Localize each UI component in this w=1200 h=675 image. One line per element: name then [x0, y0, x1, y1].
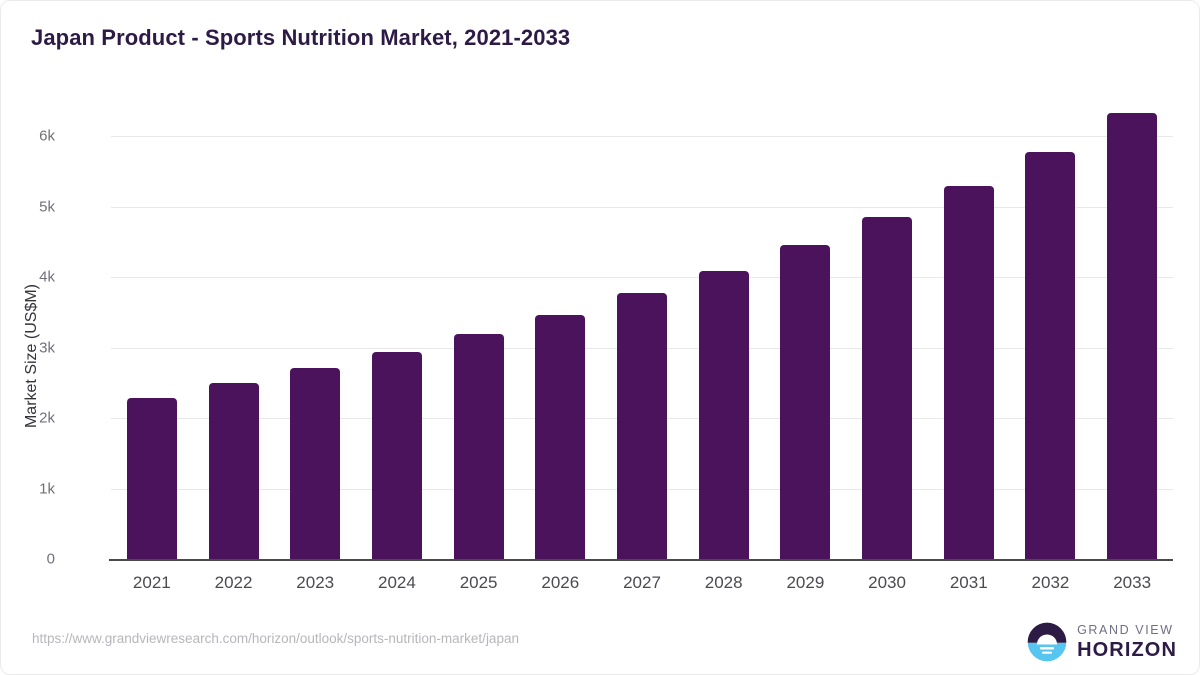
source-url-text: https://www.grandviewresearch.com/horizo…	[32, 631, 519, 646]
y-tick-label: 6k	[0, 128, 55, 145]
x-tick-label: 2032	[1005, 573, 1095, 593]
x-tick-label: 2024	[352, 573, 442, 593]
gridline	[111, 207, 1173, 208]
x-axis-line	[109, 559, 1173, 561]
bar[interactable]	[699, 271, 749, 559]
chart-canvas: Japan Product - Sports Nutrition Market,…	[0, 0, 1200, 675]
bar[interactable]	[535, 315, 585, 559]
y-tick-label: 0	[0, 551, 55, 568]
bar[interactable]	[944, 186, 994, 559]
horizon-circle-icon	[1026, 621, 1068, 663]
x-tick-label: 2030	[842, 573, 932, 593]
x-tick-label: 2026	[515, 573, 605, 593]
x-tick-label: 2028	[679, 573, 769, 593]
y-tick-label: 3k	[0, 339, 55, 356]
x-tick-label: 2033	[1087, 573, 1177, 593]
bar[interactable]	[372, 352, 422, 559]
gridline	[111, 277, 1173, 278]
x-tick-label: 2022	[189, 573, 279, 593]
bar[interactable]	[127, 398, 177, 559]
y-tick-label: 1k	[0, 480, 55, 497]
logo-wordmark: GRAND VIEW HORIZON	[1077, 624, 1177, 660]
x-tick-label: 2021	[107, 573, 197, 593]
logo-bottom-text: HORIZON	[1077, 640, 1177, 660]
plot-wrapper: Market Size (US$M) 01k2k3k4k5k6k 2021202…	[1, 1, 1200, 675]
bar[interactable]	[780, 245, 830, 559]
bar[interactable]	[209, 383, 259, 559]
brand-logo: GRAND VIEW HORIZON	[1026, 621, 1177, 663]
x-tick-label: 2031	[924, 573, 1014, 593]
gridline	[111, 136, 1173, 137]
x-tick-label: 2025	[434, 573, 524, 593]
bar[interactable]	[454, 334, 504, 559]
plot-area: 01k2k3k4k5k6k	[111, 136, 1173, 559]
bar[interactable]	[1107, 113, 1157, 559]
logo-top-text: GRAND VIEW	[1077, 624, 1177, 637]
y-tick-label: 2k	[0, 410, 55, 427]
x-tick-label: 2023	[270, 573, 360, 593]
bar[interactable]	[617, 293, 667, 559]
bar[interactable]	[290, 368, 340, 559]
x-tick-label: 2027	[597, 573, 687, 593]
y-tick-label: 5k	[0, 198, 55, 215]
bar[interactable]	[862, 217, 912, 559]
x-tick-label: 2029	[760, 573, 850, 593]
y-tick-label: 4k	[0, 269, 55, 286]
bar[interactable]	[1025, 152, 1075, 559]
